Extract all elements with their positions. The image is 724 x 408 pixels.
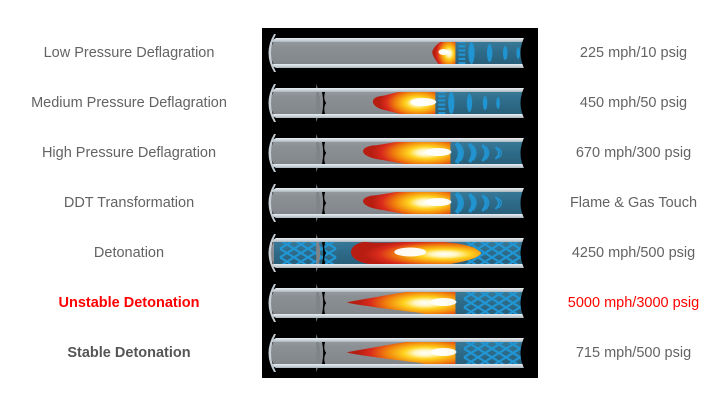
- stage-label-5: Detonation: [0, 245, 258, 261]
- stage-label-6: Unstable Detonation: [0, 295, 258, 311]
- pipe-row-3: [262, 128, 538, 178]
- pipe-rim-bottom: [272, 164, 526, 168]
- stage-value-3: 670 mph/300 psig: [543, 145, 724, 161]
- stage-value-1: 225 mph/10 psig: [543, 45, 724, 61]
- pipe-rim-top: [272, 188, 526, 192]
- pipe-rim-bottom: [272, 114, 526, 118]
- stage-label-4: DDT Transformation: [0, 195, 258, 211]
- pipe-rim-bottom: [272, 64, 526, 68]
- pipe-diagram-1: [262, 28, 538, 78]
- pipe-rim-bottom: [272, 364, 526, 368]
- pipe-row-6: [262, 278, 538, 328]
- stage-label-3: High Pressure Deflagration: [0, 145, 258, 161]
- pipe-diagram-4: [262, 178, 538, 228]
- pipe-rim-top: [272, 88, 526, 92]
- stage-label-7: Stable Detonation: [0, 345, 258, 361]
- pipe-diagram-6: [262, 278, 538, 328]
- pipe-rim-top: [272, 338, 526, 342]
- pipe-row-4: [262, 178, 538, 228]
- stage-value-5: 4250 mph/500 psig: [543, 245, 724, 261]
- stage-value-4: Flame & Gas Touch: [543, 195, 724, 211]
- pipe-rim-bottom: [272, 264, 526, 268]
- pipe-rim-bottom: [272, 314, 526, 318]
- pipe-row-2: [262, 78, 538, 128]
- stage-value-2: 450 mph/50 psig: [543, 95, 724, 111]
- pipe-rim-top: [272, 38, 526, 42]
- pipe-row-1: [262, 28, 538, 78]
- deflagration-detonation-diagram: Low Pressure DeflagrationMedium Pressure…: [0, 0, 724, 408]
- stage-label-2: Medium Pressure Deflagration: [0, 95, 258, 111]
- pipe-diagram-2: [262, 78, 538, 128]
- pipe-illustration-panel: [262, 28, 538, 378]
- pipe-rim-top: [272, 288, 526, 292]
- pipe-diagram-7: [262, 328, 538, 378]
- pipe-diagram-3: [262, 128, 538, 178]
- pipe-rim-top: [272, 138, 526, 142]
- pipe-diagram-5: [262, 228, 538, 278]
- stage-value-6: 5000 mph/3000 psig: [543, 295, 724, 311]
- pipe-row-5: [262, 228, 538, 278]
- stage-label-1: Low Pressure Deflagration: [0, 45, 258, 61]
- stage-value-7: 715 mph/500 psig: [543, 345, 724, 361]
- pipe-rim-top: [272, 238, 526, 242]
- pipe-rim-bottom: [272, 214, 526, 218]
- pipe-row-7: [262, 328, 538, 378]
